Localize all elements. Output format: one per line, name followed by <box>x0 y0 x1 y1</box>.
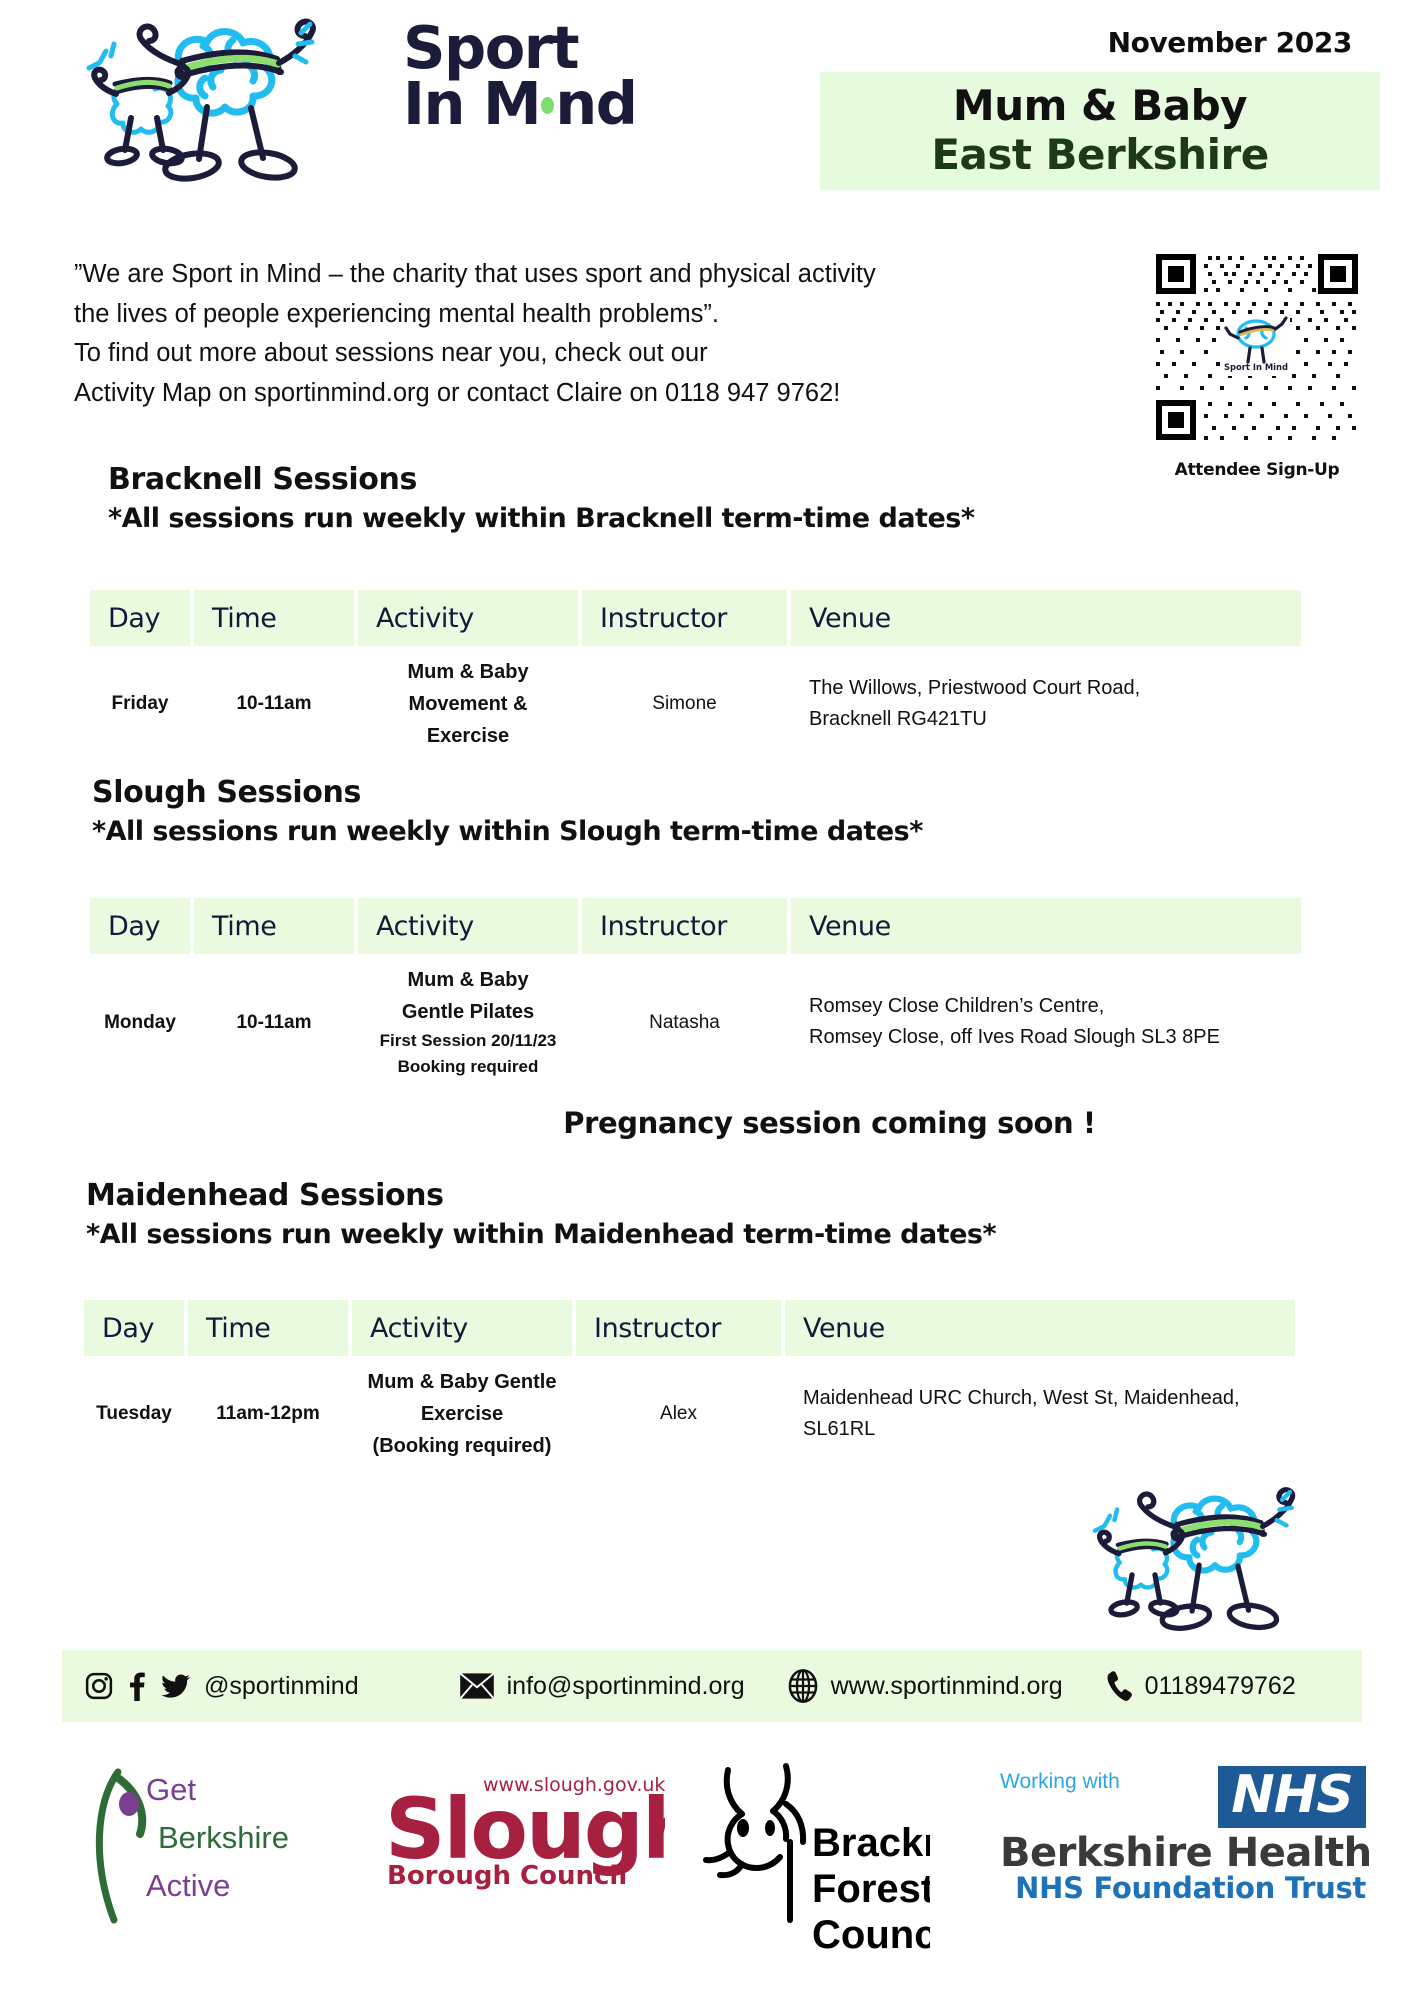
col-time: Time <box>188 1300 348 1356</box>
contact-bar: @sportinmind info@sportinmind.org www.sp… <box>62 1650 1362 1722</box>
col-activity: Activity <box>358 590 578 646</box>
activity-line: Mum & Baby <box>364 964 572 996</box>
col-activity: Activity <box>358 898 578 954</box>
intro-line-2: the lives of people experiencing mental … <box>74 295 1174 335</box>
intro-line-4: Activity Map on sportinmind.org or conta… <box>74 374 1174 414</box>
table-row: Tuesday 11am-12pm Mum & Baby Gentle Exer… <box>84 1356 1295 1472</box>
nhs-line-2: NHS Foundation Trust <box>1015 1871 1366 1905</box>
slough-borough-council-logo: www.slough.gov.uk Slough Borough Council <box>385 1766 665 1906</box>
cell-day: Monday <box>90 954 190 1091</box>
poster-header: Sport In Mnd November 2023 Mum & Baby Ea… <box>0 0 1414 245</box>
cell-instructor: Simone <box>582 646 787 762</box>
col-day: Day <box>90 590 190 646</box>
poster-page: Sport In Mnd November 2023 Mum & Baby Ea… <box>0 0 1414 2000</box>
facebook-icon[interactable] <box>126 1671 148 1701</box>
pregnancy-session-note: Pregnancy session coming soon ! <box>364 1101 1295 1146</box>
logo-line2: In Mnd <box>403 76 636 132</box>
sport-in-mind-logo: Sport In Mnd <box>55 8 655 188</box>
table-header-row: Day Time Activity Instructor Venue <box>90 898 1301 954</box>
attendee-signup-qr-block[interactable]: Sport In Mind Attendee Sign-Up <box>1148 250 1366 480</box>
section-title-slough: Slough Sessions <box>92 775 923 810</box>
table-row: Monday 10-11am Mum & Baby Gentle Pilates… <box>90 954 1301 1091</box>
cell-activity: Mum & Baby Gentle Pilates First Session … <box>358 954 578 1091</box>
bfc-line-2: Forest <box>812 1867 930 1911</box>
poster-title-box: Mum & Baby East Berkshire <box>820 72 1380 190</box>
twitter-icon[interactable] <box>160 1671 192 1701</box>
section-slough-header: Slough Sessions *All sessions run weekly… <box>92 775 923 847</box>
table-note-row: Pregnancy session coming soon ! <box>90 1091 1301 1156</box>
mascot-decoration-icon <box>1065 1465 1365 1645</box>
cell-venue: Romsey Close Children’s Centre, Romsey C… <box>791 954 1301 1091</box>
venue-line: Maidenhead URC Church, West St, Maidenhe… <box>803 1383 1289 1414</box>
cell-time: 11am-12pm <box>188 1356 348 1472</box>
venue-line: The Willows, Priestwood Court Road, <box>809 673 1295 704</box>
cell-time: 10-11am <box>194 954 354 1091</box>
qr-inner-label: Sport In Mind <box>1224 362 1288 372</box>
slough-subtitle: Borough Council <box>387 1861 627 1891</box>
month-label: November 2023 <box>1108 26 1352 59</box>
table-header-row: Day Time Activity Instructor Venue <box>90 590 1301 646</box>
table-maidenhead: Day Time Activity Instructor Venue Tuesd… <box>80 1300 1299 1472</box>
note-cell: Pregnancy session coming soon ! <box>358 1091 1301 1156</box>
col-day: Day <box>90 898 190 954</box>
partner-logos: Get Berkshire Active www.slough.gov.uk S… <box>0 1752 1414 2000</box>
intro-line-1: ”We are Sport in Mind – the charity that… <box>74 255 1174 295</box>
gba-line-3: Active <box>146 1868 230 1903</box>
logo-wordmark: Sport In Mnd <box>403 20 636 132</box>
section-bracknell-header: Bracknell Sessions *All sessions run wee… <box>108 462 974 534</box>
venue-line: Romsey Close Children’s Centre, <box>809 991 1295 1022</box>
cell-instructor: Alex <box>576 1356 781 1472</box>
cell-time: 10-11am <box>194 646 354 762</box>
intro-text: ”We are Sport in Mind – the charity that… <box>74 255 1174 413</box>
table-bracknell: Day Time Activity Instructor Venue Frida… <box>86 590 1305 762</box>
phone-number: 01189479762 <box>1145 1672 1296 1701</box>
page-title: Mum & Baby <box>953 82 1247 130</box>
cell-venue: The Willows, Priestwood Court Road, Brac… <box>791 646 1301 762</box>
section-subtitle-slough: *All sessions run weekly within Slough t… <box>92 816 923 847</box>
globe-icon[interactable] <box>787 1669 819 1703</box>
note-cell-empty-day <box>90 1091 190 1156</box>
col-instructor: Instructor <box>576 1300 781 1356</box>
website-group[interactable]: www.sportinmind.org <box>787 1669 1063 1703</box>
logo-dot-accent <box>541 97 554 114</box>
col-time: Time <box>194 898 354 954</box>
nhs-berkshire-healthcare-logo: Working with NHS Berkshire Healthcare NH… <box>1000 1766 1370 1906</box>
instagram-icon[interactable] <box>84 1671 114 1701</box>
venue-line: Romsey Close, off Ives Road Slough SL3 8… <box>809 1022 1295 1053</box>
section-subtitle-maidenhead: *All sessions run weekly within Maidenhe… <box>86 1219 996 1250</box>
cell-day: Tuesday <box>84 1356 184 1472</box>
gba-line-1: Get <box>146 1772 196 1807</box>
venue-line: SL61RL <box>803 1414 1289 1445</box>
activity-line: Mum & Baby <box>364 656 572 688</box>
col-venue: Venue <box>785 1300 1295 1356</box>
col-venue: Venue <box>791 590 1301 646</box>
cell-day: Friday <box>90 646 190 762</box>
bfc-line-3: Council <box>812 1913 930 1956</box>
activity-line: Mum & Baby Gentle <box>358 1366 566 1398</box>
section-subtitle-bracknell: *All sessions run weekly within Bracknel… <box>108 503 974 534</box>
get-berkshire-active-logo: Get Berkshire Active <box>88 1762 338 1932</box>
table-row: Friday 10-11am Mum & Baby Movement & Exe… <box>90 646 1301 762</box>
logo-line1: Sport <box>403 20 636 76</box>
bracknell-forest-council-logo: Bracknell Forest Council <box>700 1756 930 1956</box>
qr-caption: Attendee Sign-Up <box>1148 460 1366 480</box>
bfc-line-1: Bracknell <box>812 1821 930 1865</box>
phone-group[interactable]: 01189479762 <box>1105 1670 1296 1702</box>
phone-icon[interactable] <box>1105 1670 1133 1702</box>
cell-activity: Mum & Baby Gentle Exercise (Booking requ… <box>352 1356 572 1472</box>
table-header-row: Day Time Activity Instructor Venue <box>84 1300 1295 1356</box>
cell-venue: Maidenhead URC Church, West St, Maidenhe… <box>785 1356 1295 1472</box>
col-day: Day <box>84 1300 184 1356</box>
activity-line: Gentle Pilates <box>364 996 572 1028</box>
section-title-bracknell: Bracknell Sessions <box>108 462 974 497</box>
activity-note: First Session 20/11/23 <box>364 1028 572 1054</box>
activity-line: Exercise <box>364 720 572 752</box>
section-title-maidenhead: Maidenhead Sessions <box>86 1178 996 1213</box>
nhs-line-1: Berkshire Healthcare <box>1000 1830 1370 1876</box>
note-cell-empty-time <box>194 1091 354 1156</box>
mascot-logo-icon <box>55 8 395 183</box>
col-venue: Venue <box>791 898 1301 954</box>
cell-activity: Mum & Baby Movement & Exercise <box>358 646 578 762</box>
social-handle: @sportinmind <box>204 1672 359 1701</box>
venue-line: Bracknell RG421TU <box>809 704 1295 735</box>
activity-line: Movement & <box>364 688 572 720</box>
qr-code-icon[interactable]: Sport In Mind <box>1148 250 1366 450</box>
gba-line-2: Berkshire <box>158 1820 289 1855</box>
page-subtitle-region: East Berkshire <box>931 130 1268 180</box>
col-instructor: Instructor <box>582 898 787 954</box>
table-slough: Day Time Activity Instructor Venue Monda… <box>86 898 1305 1156</box>
cell-instructor: Natasha <box>582 954 787 1091</box>
activity-note: Booking required <box>364 1054 572 1080</box>
col-instructor: Instructor <box>582 590 787 646</box>
activity-line: Exercise <box>358 1398 566 1430</box>
col-time: Time <box>194 590 354 646</box>
envelope-icon[interactable] <box>459 1671 495 1701</box>
nhs-badge-text: NHS <box>1231 1766 1353 1825</box>
email-address: info@sportinmind.org <box>507 1672 745 1701</box>
activity-note: (Booking required) <box>358 1430 566 1462</box>
social-group[interactable]: @sportinmind <box>84 1671 359 1701</box>
website-url: www.sportinmind.org <box>831 1672 1063 1701</box>
col-activity: Activity <box>352 1300 572 1356</box>
nhs-working-with: Working with <box>1000 1770 1120 1793</box>
section-maidenhead-header: Maidenhead Sessions *All sessions run we… <box>86 1178 996 1250</box>
intro-line-3: To find out more about sessions near you… <box>74 334 1174 374</box>
email-group[interactable]: info@sportinmind.org <box>459 1671 745 1701</box>
